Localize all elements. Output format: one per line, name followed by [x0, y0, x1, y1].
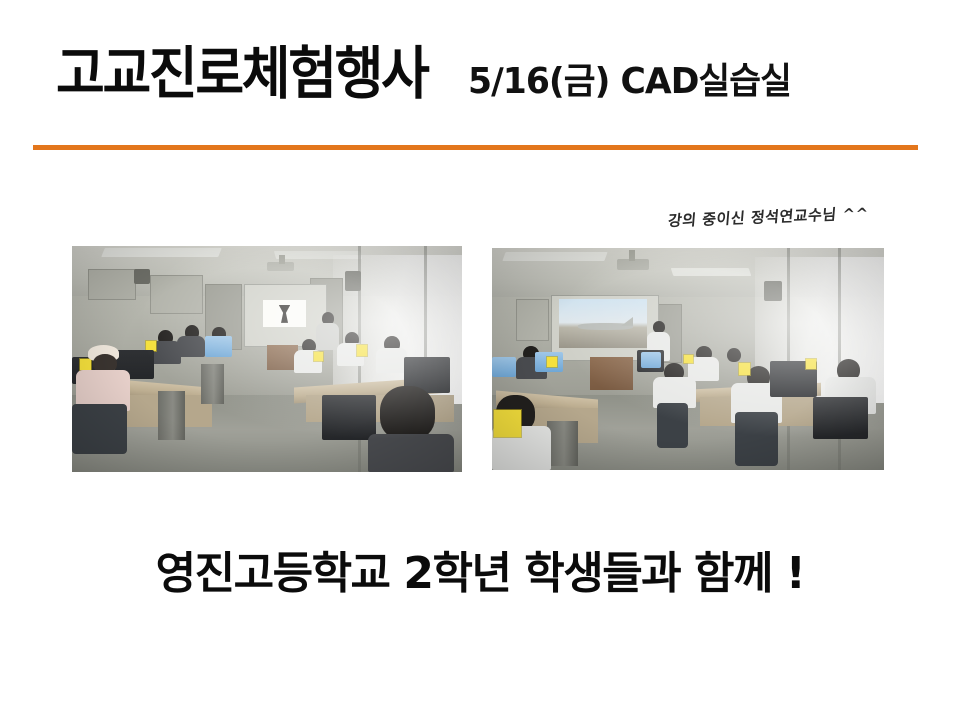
classroom-photo-right [492, 248, 884, 470]
photo-left-scene [72, 246, 462, 472]
photo-right-scene [492, 248, 884, 470]
title-main-text: 고교진로체험행사 [56, 46, 428, 103]
slide-canvas: 고교진로체험행사 5/16(금) CAD실습실 강의 중이신 정석연교수님 ^^ [0, 0, 960, 720]
slide-caption: 영진고등학교 2학년 학생들과 함께 ! [0, 552, 960, 596]
photo-vignette [492, 248, 884, 470]
photo-vignette [72, 246, 462, 472]
slide-title: 고교진로체험행사 5/16(금) CAD실습실 [56, 46, 936, 118]
handwritten-annotation: 강의 중이신 정석연교수님 ^^ [667, 199, 899, 234]
orange-divider-line [33, 145, 918, 150]
classroom-photo-left [72, 246, 462, 472]
title-subtitle-text: 5/16(금) CAD실습실 [468, 64, 791, 100]
